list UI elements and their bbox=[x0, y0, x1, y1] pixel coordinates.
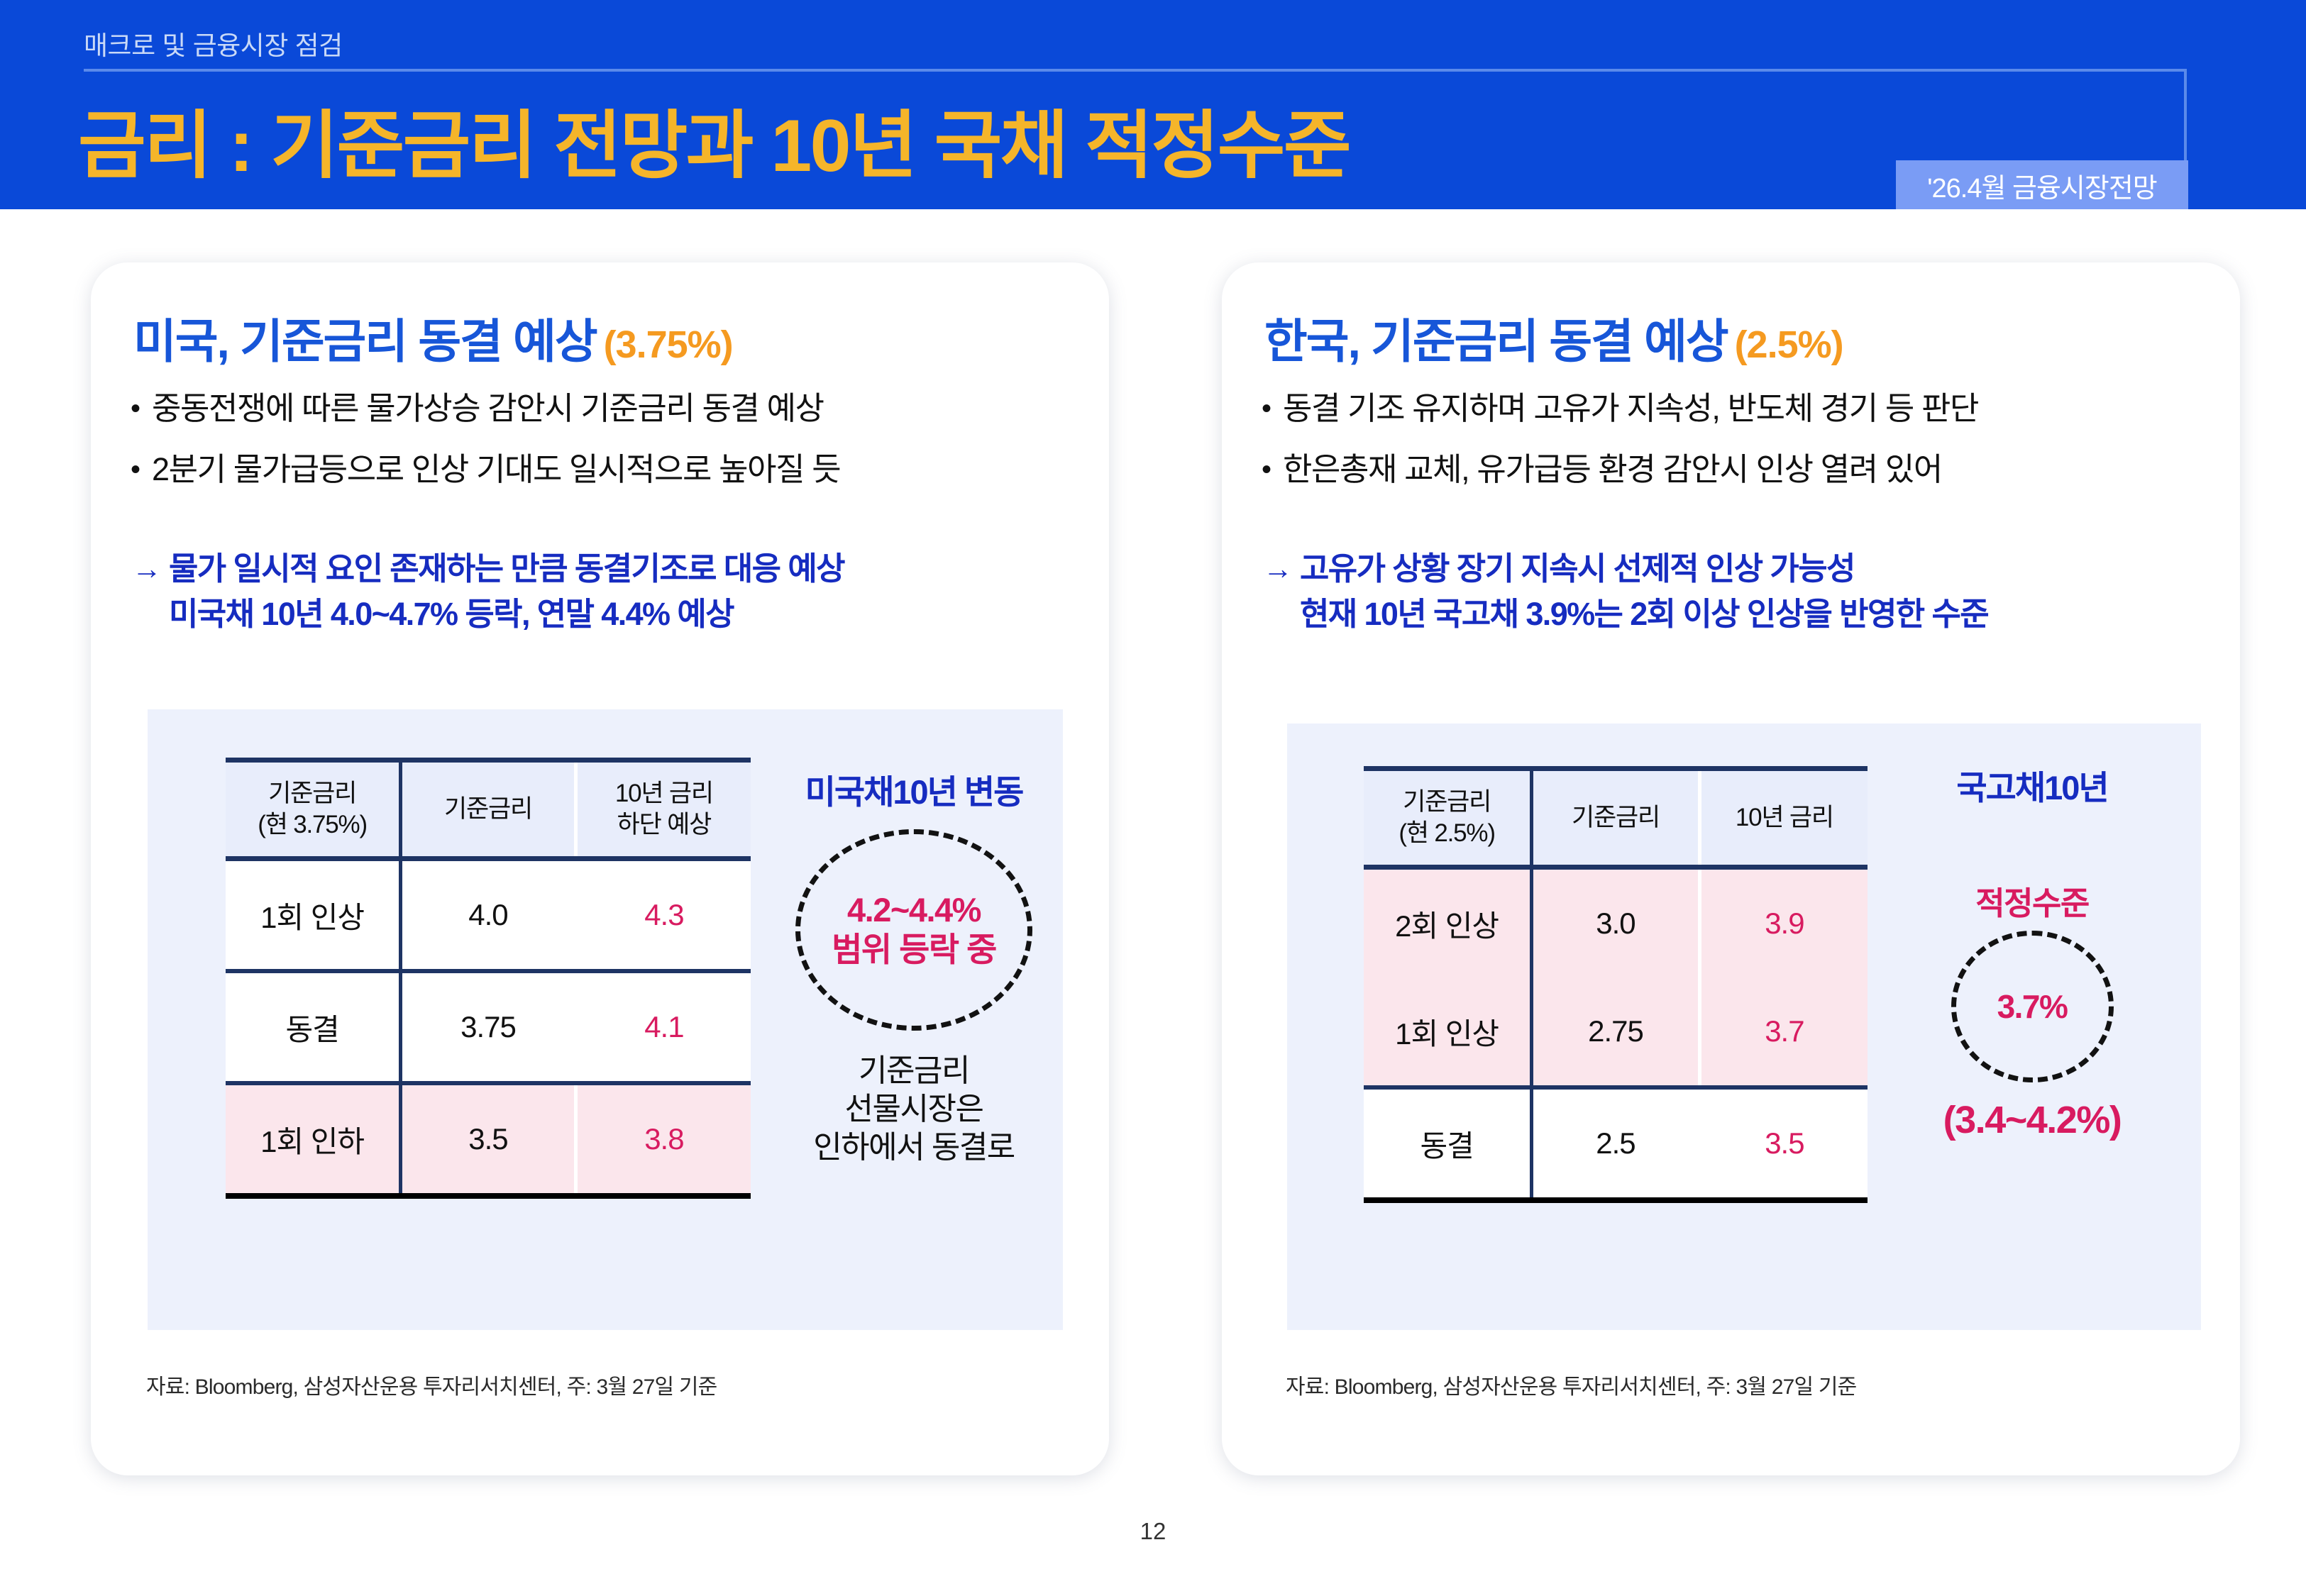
table-panel-korea: 기준금리 (현 2.5%) 기준금리 10년 금리 2회 인상 3.0 3.9 bbox=[1287, 724, 2201, 1330]
card-title-main: 미국, 기준금리 동결 예상 bbox=[133, 315, 597, 367]
cell-scenario: 1회 인상 bbox=[226, 859, 401, 972]
bullet-text: 동결 기조 유지하며 고유가 지속성, 반도체 경기 등 판단 bbox=[1283, 389, 1978, 428]
cell-policy-rate: 2.5 bbox=[1532, 1087, 1700, 1200]
table-row-highlighted: 2회 인상 3.0 3.9 bbox=[1364, 868, 1868, 978]
conclusion-line: → 물가 일시적 요인 존재하는 만큼 동결기조로 대응 예상 bbox=[132, 546, 1090, 592]
conclusion-text: 현재 10년 국고채 3.9%는 2회 이상 인상을 반영한 수준 bbox=[1300, 592, 1988, 637]
header-eyebrow: 매크로 및 금융시장 점검 bbox=[84, 24, 343, 62]
list-item: • 동결 기조 유지하며 고유가 지속성, 반도체 경기 등 판단 bbox=[1262, 389, 2212, 428]
cell-ten-year: 3.8 bbox=[575, 1083, 751, 1196]
column-header-ten-year: 10년 금리 bbox=[1699, 769, 1868, 868]
annotation-heading: 국고채10년 bbox=[1880, 760, 2185, 809]
source-footnote: 자료: Bloomberg, 삼성자산운용 투자리서치센터, 주: 3월 27일… bbox=[146, 1369, 717, 1400]
column-header-policy-rate: 기준금리 bbox=[1532, 769, 1700, 868]
bullet-text: 한은총재 교체, 유가급등 환경 감안시 인상 열려 있어 bbox=[1283, 450, 1942, 489]
cell-scenario: 1회 인하 bbox=[226, 1083, 401, 1196]
card-korea-policy-rate: 한국, 기준금리 동결 예상(2.5%) • 동결 기조 유지하며 고유가 지속… bbox=[1222, 262, 2240, 1475]
column-header-ten-year: 10년 금리 하단 예상 bbox=[575, 760, 751, 859]
rate-scenario-table-us: 기준금리 (현 3.75%) 기준금리 10년 금리 하단 예상 1회 인상 4… bbox=[226, 758, 751, 1199]
bullet-text: 중동전쟁에 따른 물가상승 감안시 기준금리 동결 예상 bbox=[152, 389, 824, 428]
bullet-dot-icon: • bbox=[131, 389, 140, 428]
cell-scenario: 1회 인상 bbox=[1364, 977, 1532, 1087]
conclusion-text: 미국채 10년 4.0~4.7% 등락, 연말 4.4% 예상 bbox=[169, 592, 734, 637]
table-body: 1회 인상 4.0 4.3 동결 3.75 4.1 1회 인하 3.5 3.8 bbox=[226, 859, 751, 1197]
bullet-list-korea: • 동결 기조 유지하며 고유가 지속성, 반도체 경기 등 판단 • 한은총재… bbox=[1262, 389, 2212, 511]
annotation-note: 기준금리 선물시장은 인하에서 동결로 bbox=[772, 1052, 1056, 1167]
page-title: 금리 : 기준금리 전망과 10년 국채 적정수준 bbox=[78, 85, 1350, 192]
source-footnote: 자료: Bloomberg, 삼성자산운용 투자리서치센터, 주: 3월 27일… bbox=[1286, 1369, 1856, 1400]
annotation-subheading: 적정수준 bbox=[1880, 877, 2185, 924]
cell-ten-year: 3.5 bbox=[1699, 1087, 1868, 1200]
dashed-circle-annotation: 3.7% bbox=[1951, 931, 2114, 1082]
cell-policy-rate: 3.5 bbox=[401, 1083, 576, 1196]
table-row-highlighted: 1회 인상 2.75 3.7 bbox=[1364, 977, 1868, 1087]
table-row: 1회 인상 4.0 4.3 bbox=[226, 859, 751, 972]
table-row-highlighted: 1회 인하 3.5 3.8 bbox=[226, 1083, 751, 1196]
card-title-korea: 한국, 기준금리 동결 예상(2.5%) bbox=[1264, 304, 1843, 372]
card-title-us: 미국, 기준금리 동결 예상(3.75%) bbox=[133, 304, 733, 372]
page-number: 12 bbox=[0, 1518, 2306, 1545]
table-row: 동결 2.5 3.5 bbox=[1364, 1087, 1868, 1200]
table-header-row: 기준금리 (현 3.75%) 기준금리 10년 금리 하단 예상 bbox=[226, 760, 751, 859]
bullet-dot-icon: • bbox=[1262, 450, 1271, 489]
header-divider-vertical bbox=[2184, 69, 2187, 172]
table-header: 기준금리 (현 3.75%) 기준금리 10년 금리 하단 예상 bbox=[226, 760, 751, 859]
list-item: • 중동전쟁에 따른 물가상승 감안시 기준금리 동결 예상 bbox=[131, 389, 1081, 428]
list-item: • 한은총재 교체, 유가급등 환경 감안시 인상 열려 있어 bbox=[1262, 450, 2212, 489]
card-us-policy-rate: 미국, 기준금리 동결 예상(3.75%) • 중동전쟁에 따른 물가상승 감안… bbox=[91, 262, 1109, 1475]
annotation-heading: 미국채10년 변동 bbox=[772, 765, 1056, 814]
cell-policy-rate: 3.75 bbox=[401, 971, 576, 1083]
annotation-korea-treasury: 국고채10년 적정수준 3.7% (3.4~4.2%) bbox=[1880, 760, 2185, 1142]
column-header-policy-rate: 기준금리 bbox=[401, 760, 576, 859]
cell-scenario: 2회 인상 bbox=[1364, 868, 1532, 978]
card-title-rate: (3.75%) bbox=[604, 323, 733, 366]
conclusion-text: 고유가 상황 장기 지속시 선제적 인상 가능성 bbox=[1300, 546, 1855, 592]
bullet-dot-icon: • bbox=[1262, 389, 1271, 428]
rate-scenario-table-korea: 기준금리 (현 2.5%) 기준금리 10년 금리 2회 인상 3.0 3.9 bbox=[1364, 766, 1868, 1203]
cell-policy-rate: 2.75 bbox=[1532, 977, 1700, 1087]
table-panel-us: 기준금리 (현 3.75%) 기준금리 10년 금리 하단 예상 1회 인상 4… bbox=[148, 709, 1063, 1330]
cell-scenario: 동결 bbox=[1364, 1087, 1532, 1200]
column-header-scenario: 기준금리 (현 2.5%) bbox=[1364, 769, 1532, 868]
annotation-value: 3.7% bbox=[1997, 987, 2068, 1026]
bullet-text: 2분기 물가급등으로 인상 기대도 일시적으로 높아질 듯 bbox=[152, 450, 840, 489]
table-row: 동결 3.75 4.1 bbox=[226, 971, 751, 1083]
card-title-main: 한국, 기준금리 동결 예상 bbox=[1264, 315, 1728, 367]
table-body: 2회 인상 3.0 3.9 1회 인상 2.75 3.7 동결 2.5 3.5 bbox=[1364, 868, 1868, 1201]
cell-scenario: 동결 bbox=[226, 971, 401, 1083]
annotation-us-treasury: 미국채10년 변동 4.2~4.4% 범위 등락 중 기준금리 선물시장은 인하… bbox=[772, 765, 1056, 1167]
conclusion-line: 현재 10년 국고채 3.9%는 2회 이상 인상을 반영한 수준 bbox=[1263, 592, 2221, 637]
annotation-value-range: 4.2~4.4% bbox=[847, 890, 981, 930]
conclusion-block-korea: → 고유가 상황 장기 지속시 선제적 인상 가능성 현재 10년 국고채 3.… bbox=[1263, 546, 2221, 637]
cell-ten-year: 3.9 bbox=[1699, 868, 1868, 978]
report-period-label: '26.4월 금융시장전망 bbox=[1927, 166, 2157, 205]
cell-ten-year: 3.7 bbox=[1699, 977, 1868, 1087]
cell-ten-year: 4.3 bbox=[575, 859, 751, 972]
conclusion-line: 미국채 10년 4.0~4.7% 등락, 연말 4.4% 예상 bbox=[132, 592, 1090, 637]
bullet-dot-icon: • bbox=[131, 450, 140, 489]
list-item: • 2분기 물가급등으로 인상 기대도 일시적으로 높아질 듯 bbox=[131, 450, 1081, 489]
cell-policy-rate: 3.0 bbox=[1532, 868, 1700, 978]
column-header-scenario: 기준금리 (현 3.75%) bbox=[226, 760, 401, 859]
conclusion-text: 물가 일시적 요인 존재하는 만큼 동결기조로 대응 예상 bbox=[169, 546, 844, 592]
conclusion-block-us: → 물가 일시적 요인 존재하는 만큼 동결기조로 대응 예상 미국채 10년 … bbox=[132, 546, 1090, 637]
annotation-value-range: (3.4~4.2%) bbox=[1880, 1098, 2185, 1142]
arrow-right-icon: → bbox=[1263, 546, 1300, 592]
table-header: 기준금리 (현 2.5%) 기준금리 10년 금리 bbox=[1364, 769, 1868, 868]
table-header-row: 기준금리 (현 2.5%) 기준금리 10년 금리 bbox=[1364, 769, 1868, 868]
annotation-value-label: 범위 등락 중 bbox=[832, 930, 996, 970]
cell-ten-year: 4.1 bbox=[575, 971, 751, 1083]
cell-policy-rate: 4.0 bbox=[401, 859, 576, 972]
conclusion-line: → 고유가 상황 장기 지속시 선제적 인상 가능성 bbox=[1263, 546, 2221, 592]
dashed-circle-annotation: 4.2~4.4% 범위 등락 중 bbox=[795, 829, 1032, 1031]
arrow-right-icon: → bbox=[132, 546, 169, 592]
card-title-rate: (2.5%) bbox=[1735, 323, 1843, 366]
bullet-list-us: • 중동전쟁에 따른 물가상승 감안시 기준금리 동결 예상 • 2분기 물가급… bbox=[131, 389, 1081, 511]
slide-header: 매크로 및 금융시장 점검 금리 : 기준금리 전망과 10년 국채 적정수준 … bbox=[0, 0, 2306, 209]
report-period-badge: '26.4월 금융시장전망 bbox=[1896, 160, 2188, 209]
header-divider-horizontal bbox=[84, 69, 2184, 72]
